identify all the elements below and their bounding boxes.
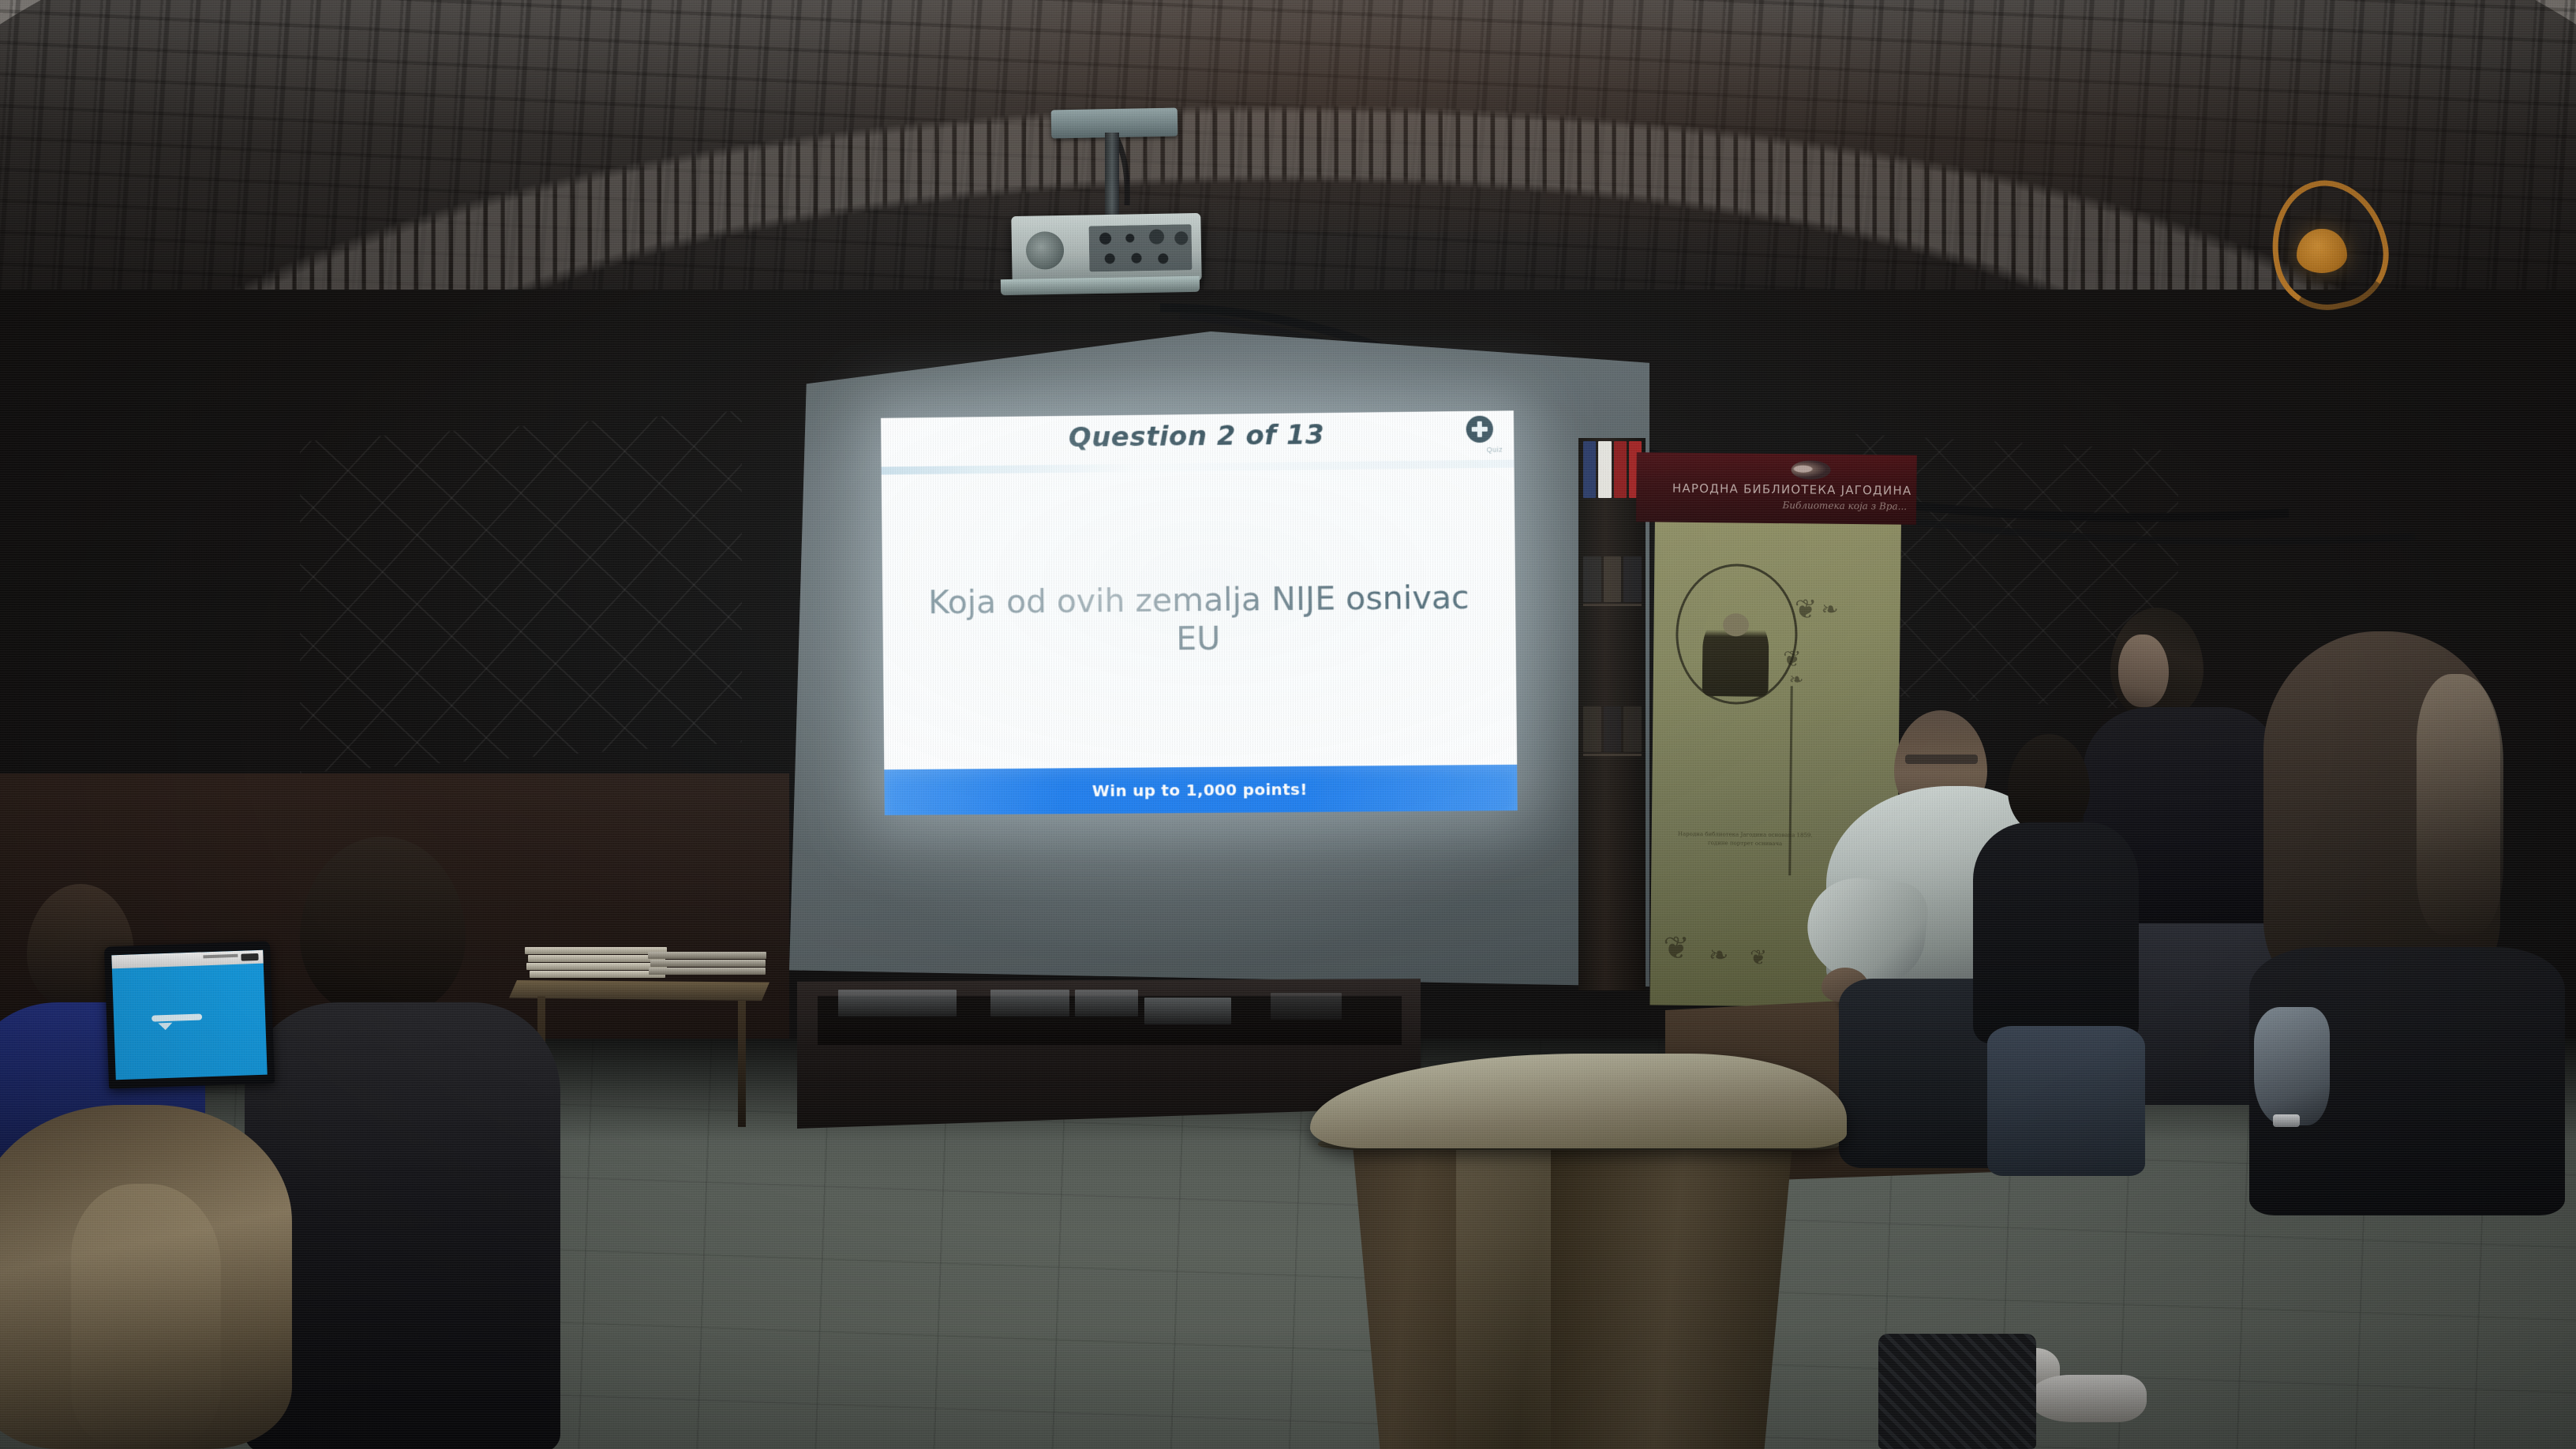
book-spine (1583, 706, 1601, 752)
book-spine (1583, 441, 1596, 498)
ornament-swirl-icon: ❧ (1709, 944, 1728, 968)
laptop-toolbar-button[interactable] (241, 953, 258, 961)
points-suffix: points! (1237, 780, 1307, 799)
projector-lens-icon (1026, 231, 1065, 270)
book-spine (1614, 441, 1627, 498)
shelf-books-top (1583, 441, 1642, 498)
lectern-front-panel (1456, 1148, 1551, 1449)
laptop-toolbar-label (203, 954, 238, 959)
points-value: 1,000 (1186, 781, 1237, 799)
attendee2-hair-highlight (2417, 674, 2503, 934)
book (649, 968, 766, 975)
book-spine (1583, 556, 1601, 602)
sneaker-right (2028, 1375, 2147, 1422)
laptop-screen[interactable] (111, 950, 267, 1080)
attendee3-jeans (1987, 1026, 2145, 1176)
shelf-books-low (1583, 706, 1642, 752)
slide-header: Question 2 of 13 Quiz (881, 410, 1514, 466)
attendee3-head (2008, 734, 2090, 835)
audience-laptop[interactable] (104, 941, 275, 1088)
question-text: Koja od ovih zemalja NIJE osnivac EU (917, 578, 1481, 661)
audience-blonde-strand (71, 1184, 221, 1444)
cabinet-item (1271, 993, 1342, 1020)
book (648, 952, 766, 959)
cabinet-item (990, 990, 1069, 1017)
lectern (1310, 1054, 1847, 1449)
projected-slide: Question 2 of 13 Quiz Koja od ovih zemal… (881, 410, 1518, 815)
portrait-figure (1702, 611, 1769, 697)
slide-body: Koja od ovih zemalja NIJE osnivac EU (882, 468, 1517, 770)
projector-mount-pole (1105, 133, 1119, 221)
person-audience-blonde (0, 1105, 316, 1449)
shelf-divider (1583, 604, 1642, 606)
library-name: НАРОДНА БИБЛИОТЕКА ЈАГОДИНА (1636, 481, 1911, 498)
points-banner: Win up to 1,000 points! (884, 765, 1517, 815)
book (650, 960, 766, 967)
audience2-head (300, 837, 466, 1018)
library-tagline: Библиотека која з Вра... (1636, 498, 1907, 512)
projector-body[interactable] (1011, 213, 1201, 284)
lectern-body (1343, 1142, 1801, 1449)
ornament-swirl-icon: ❦ (1783, 648, 1802, 670)
cabinet-item (838, 990, 957, 1017)
book-spine (1598, 441, 1611, 498)
book-stack-right (648, 952, 766, 983)
presenter-glasses-icon (1905, 754, 1978, 764)
brand-sublabel: Quiz (1487, 446, 1503, 454)
attendee-face (2118, 635, 2169, 707)
book-spine (1604, 556, 1622, 602)
side-table-leg (738, 1001, 746, 1127)
library-banner-header: НАРОДНА БИБЛИОТЕКА ЈАГОДИНА Библиотека к… (1636, 452, 1917, 525)
ornament-swirl-icon: ❦ (1795, 596, 1818, 623)
attendee2-sleeve (2254, 1007, 2330, 1125)
book-spine (1604, 706, 1622, 752)
person-attendee-right-3 (1973, 734, 2155, 1176)
ornament-swirl-icon: ❦ (1750, 948, 1767, 968)
work-lamp[interactable] (2297, 229, 2347, 273)
library-logo-icon (1791, 460, 1830, 480)
backpack (1878, 1334, 2036, 1449)
cabinet-item (1075, 990, 1138, 1017)
shelf-books-mid (1583, 556, 1642, 602)
plus-badge-icon (1466, 416, 1494, 444)
backpack-body (1878, 1334, 2036, 1449)
question-counter: Question 2 of 13 (881, 417, 1514, 455)
ornament-swirl-icon: ❦ (1663, 933, 1690, 964)
laptop-caret-icon (158, 1023, 172, 1031)
lattice-grille-left (300, 410, 742, 773)
ornament-swirl-icon: ❧ (1822, 600, 1839, 620)
attendee2-watch-icon (2273, 1114, 2300, 1127)
poster-caption: Народна библиотека Јагодина основана 185… (1672, 830, 1818, 849)
cabinet-item (1144, 998, 1231, 1024)
presentation-room-photo: Question 2 of 13 Quiz Koja od ovih zemal… (0, 0, 2576, 1449)
laptop-content-pill (152, 1013, 202, 1021)
points-prefix: Win up to (1092, 781, 1186, 800)
person-attendee-right-2 (2249, 631, 2576, 1215)
attendee3-torso (1973, 822, 2139, 1043)
lectern-top-surface (1310, 1054, 1847, 1148)
projector-port-panel (1088, 224, 1192, 271)
points-banner-text: Win up to 1,000 points! (1092, 780, 1308, 800)
